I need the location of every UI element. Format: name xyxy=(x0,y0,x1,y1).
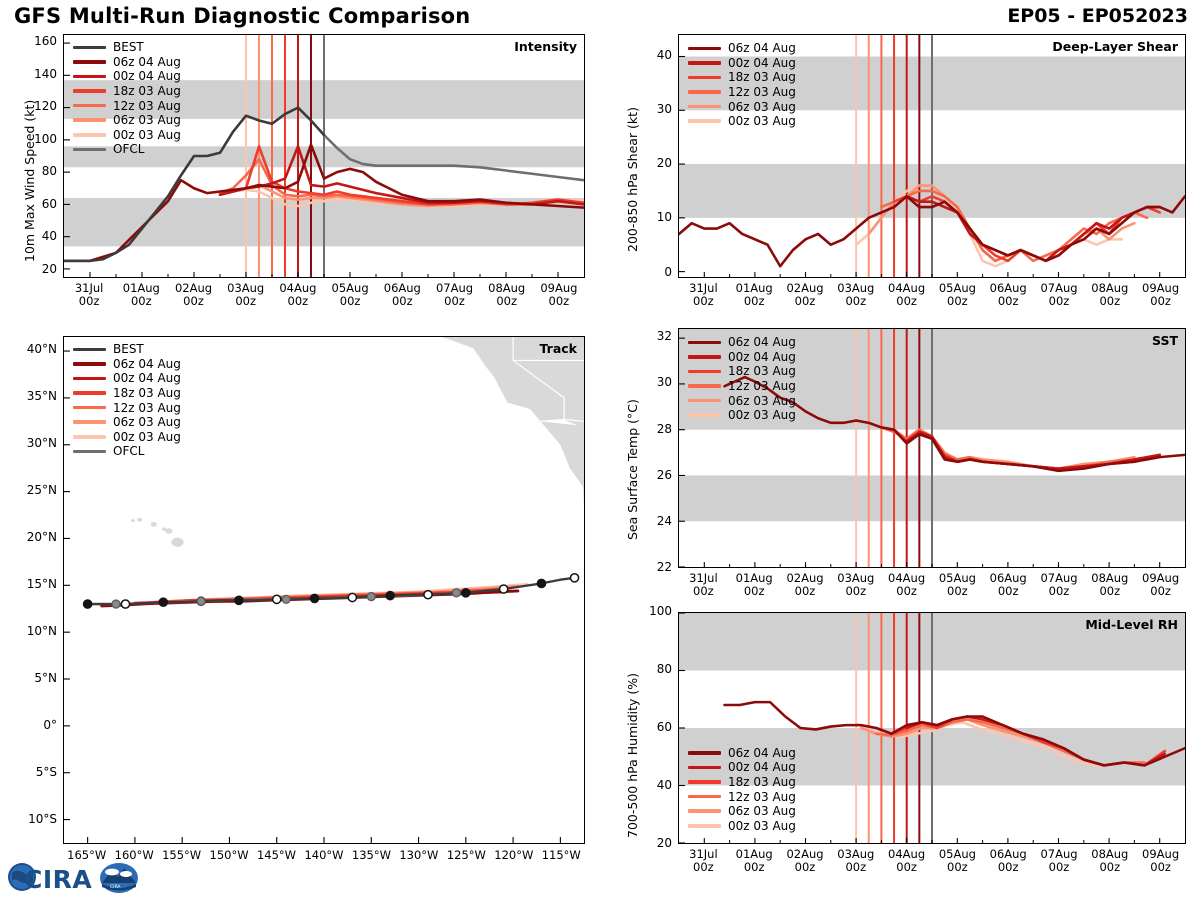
legend-label: 00z 04 Aug xyxy=(728,56,796,70)
legend-item: 06z 04 Aug xyxy=(73,357,181,372)
legend-label: 00z 04 Aug xyxy=(728,760,796,774)
legend-item: BEST xyxy=(73,40,181,55)
legend-swatch-06z-03-aug xyxy=(688,105,721,109)
rh-y-axis-label: 700-500 hPa Humidity (%) xyxy=(625,673,640,838)
legend-swatch-18z-03-aug xyxy=(73,391,106,395)
panel-label-rh: Mid-Level RH xyxy=(1085,617,1178,632)
track-marker-ofcl xyxy=(112,600,120,608)
legend-label: 18z 03 Aug xyxy=(728,364,796,378)
sst-y-axis-label: Sea Surface Temp (°C) xyxy=(625,399,640,540)
legend-label: 06z 04 Aug xyxy=(728,746,796,760)
landmass-hawaii xyxy=(131,519,135,522)
legend-swatch-18z-03-aug xyxy=(688,76,721,80)
legend-swatch-ofcl xyxy=(73,450,106,454)
legend-item: 00z 03 Aug xyxy=(688,818,796,833)
legend-swatch-06z-03-aug xyxy=(73,420,106,424)
legend-label: 18z 03 Aug xyxy=(728,70,796,84)
legend-label: OFCL xyxy=(113,142,144,156)
legend-swatch-12z-03-aug xyxy=(688,90,721,94)
legend-shear: 06z 04 Aug00z 04 Aug18z 03 Aug12z 03 Aug… xyxy=(688,41,796,129)
legend-swatch-00z-04-aug xyxy=(73,75,106,79)
legend-swatch-18z-03-aug xyxy=(688,370,721,374)
y-tick-label: 35°N xyxy=(3,389,57,403)
y-tick-label: 20°N xyxy=(3,530,57,544)
panel-sst[interactable]: SST 06z 04 Aug00z 04 Aug18z 03 Aug12z 03… xyxy=(678,328,1186,568)
panel-label-shear: Deep-Layer Shear xyxy=(1052,39,1178,54)
legend-swatch-18z-03-aug xyxy=(73,89,106,93)
legend-item: 06z 03 Aug xyxy=(73,415,181,430)
x-tick-label: 09Aug00z xyxy=(1129,572,1193,598)
legend-swatch-00z-03-aug xyxy=(73,133,106,137)
legend-item: 06z 03 Aug xyxy=(73,113,181,128)
figure-canvas: GFS Multi-Run Diagnostic Comparison EP05… xyxy=(0,0,1200,900)
track-marker xyxy=(386,592,394,600)
cira-logo-graphic: CIRA CIRA xyxy=(6,858,138,898)
track-marker xyxy=(84,600,92,608)
legend-swatch-00z-04-aug xyxy=(688,61,721,65)
legend-swatch-06z-04-aug xyxy=(688,341,721,345)
legend-item: 00z 03 Aug xyxy=(73,430,181,445)
legend-item: 00z 04 Aug xyxy=(73,69,181,84)
track-marker xyxy=(121,600,129,608)
legend-label: 18z 03 Aug xyxy=(113,84,181,98)
legend-label: 00z 04 Aug xyxy=(728,350,796,364)
legend-swatch-06z-03-aug xyxy=(688,399,721,403)
y-tick-label: 5°S xyxy=(3,765,57,779)
svg-text:CIRA: CIRA xyxy=(24,865,92,894)
legend-item: 00z 04 Aug xyxy=(688,56,796,71)
legend-item: 06z 04 Aug xyxy=(688,41,796,56)
legend-swatch-12z-03-aug xyxy=(73,104,106,108)
legend-track: BEST06z 04 Aug00z 04 Aug18z 03 Aug12z 03… xyxy=(73,342,181,459)
y-tick-label: 30 xyxy=(620,375,672,389)
legend-swatch-06z-04-aug xyxy=(688,47,721,51)
legend-swatch-00z-03-aug xyxy=(688,824,721,828)
legend-swatch-12z-03-aug xyxy=(73,406,106,410)
svg-text:CIRA: CIRA xyxy=(110,884,121,890)
legend-swatch-ofcl xyxy=(73,148,106,152)
track-marker xyxy=(159,598,167,606)
landmass-hawaii xyxy=(165,528,172,533)
legend-swatch-06z-03-aug xyxy=(688,809,721,813)
legend-item: 18z 03 Aug xyxy=(688,70,796,85)
legend-label: BEST xyxy=(113,342,144,356)
landmass-baja-california xyxy=(541,421,584,508)
legend-label: 00z 03 Aug xyxy=(728,408,796,422)
track-marker xyxy=(500,585,508,593)
track-marker xyxy=(570,574,578,582)
track-marker xyxy=(348,593,356,601)
legend-item: 18z 03 Aug xyxy=(73,84,181,99)
track-marker-ofcl xyxy=(367,593,375,601)
legend-item: 06z 03 Aug xyxy=(688,99,796,114)
legend-item: 00z 03 Aug xyxy=(73,128,181,143)
legend-swatch-00z-04-aug xyxy=(688,355,721,359)
y-tick-label: 25°N xyxy=(3,483,57,497)
panel-label-track: Track xyxy=(540,341,577,356)
legend-intensity: BEST06z 04 Aug00z 04 Aug18z 03 Aug12z 03… xyxy=(73,40,181,157)
landmass-hawaii xyxy=(137,518,142,522)
legend-label: 06z 03 Aug xyxy=(728,100,796,114)
x-tick-label: 09Aug00z xyxy=(527,282,591,308)
y-tick-label: 20 xyxy=(5,262,57,276)
legend-item: BEST xyxy=(73,342,181,357)
legend-label: 06z 03 Aug xyxy=(728,394,796,408)
panel-rh[interactable]: Mid-Level RH 06z 04 Aug00z 04 Aug18z 03 … xyxy=(678,612,1186,844)
legend-label: BEST xyxy=(113,40,144,54)
panel-shear[interactable]: Deep-Layer Shear 06z 04 Aug00z 04 Aug18z… xyxy=(678,34,1186,278)
y-tick-label: 22 xyxy=(620,560,672,574)
legend-label: 18z 03 Aug xyxy=(728,775,796,789)
y-tick-label: 40°N xyxy=(3,342,57,356)
legend-item: 12z 03 Aug xyxy=(688,85,796,100)
legend-item: 18z 03 Aug xyxy=(688,775,796,790)
series-line-06z-03-aug xyxy=(869,423,1135,469)
legend-sst: 06z 04 Aug00z 04 Aug18z 03 Aug12z 03 Aug… xyxy=(688,335,796,423)
landmass-hawaii xyxy=(151,522,157,527)
y-tick-label: 10°N xyxy=(3,624,57,638)
legend-swatch-06z-04-aug xyxy=(688,751,721,755)
landmass-hawaii xyxy=(171,538,183,547)
y-tick-label: 20 xyxy=(620,836,672,850)
intensity-y-axis-label: 10m Max Wind Speed (kt) xyxy=(22,100,37,262)
cira-logo: CIRA CIRA xyxy=(6,858,138,898)
y-tick-label: 15°N xyxy=(3,577,57,591)
legend-label: 12z 03 Aug xyxy=(728,379,796,393)
legend-swatch-06z-04-aug xyxy=(73,60,106,64)
legend-label: 06z 04 Aug xyxy=(113,357,181,371)
legend-item: 12z 03 Aug xyxy=(73,98,181,113)
y-tick-label: 32 xyxy=(620,329,672,343)
legend-label: 00z 03 Aug xyxy=(728,114,796,128)
legend-label: 06z 04 Aug xyxy=(728,335,796,349)
legend-label: 06z 04 Aug xyxy=(728,41,796,55)
storm-id-title: EP05 - EP052023 xyxy=(1007,5,1188,27)
track-marker-ofcl xyxy=(452,589,460,597)
legend-label: 00z 03 Aug xyxy=(113,128,181,142)
legend-swatch-18z-03-aug xyxy=(688,780,721,784)
legend-item: 06z 03 Aug xyxy=(688,804,796,819)
legend-item: 12z 03 Aug xyxy=(73,400,181,415)
y-tick-label: 100 xyxy=(620,604,672,618)
legend-swatch-00z-04-aug xyxy=(73,377,106,381)
panel-label-intensity: Intensity xyxy=(514,39,577,54)
legend-swatch-00z-04-aug xyxy=(688,766,721,770)
panel-label-sst: SST xyxy=(1152,333,1178,348)
shear-y-axis-label: 200-850 hPa Shear (kt) xyxy=(625,107,640,252)
y-tick-label: 0 xyxy=(620,265,672,279)
legend-label: 06z 03 Aug xyxy=(113,415,181,429)
legend-label: 18z 03 Aug xyxy=(113,386,181,400)
legend-label: 00z 04 Aug xyxy=(113,69,181,83)
legend-label: 06z 03 Aug xyxy=(113,113,181,127)
y-tick-label: 40 xyxy=(620,48,672,62)
legend-swatch-best xyxy=(73,46,106,50)
legend-label: 12z 03 Aug xyxy=(113,99,181,113)
legend-swatch-12z-03-aug xyxy=(688,384,721,388)
legend-item: 12z 03 Aug xyxy=(688,379,796,394)
legend-item: 06z 03 Aug xyxy=(688,393,796,408)
legend-item: 00z 03 Aug xyxy=(688,408,796,423)
legend-label: 12z 03 Aug xyxy=(728,790,796,804)
legend-label: OFCL xyxy=(113,444,144,458)
panel-track[interactable]: Track BEST06z 04 Aug00z 04 Aug18z 03 Aug… xyxy=(63,336,585,844)
legend-rh: 06z 04 Aug00z 04 Aug18z 03 Aug12z 03 Aug… xyxy=(688,745,796,833)
legend-label: 00z 03 Aug xyxy=(728,819,796,833)
x-tick-label: 115°W xyxy=(529,849,593,862)
x-tick-label: 09Aug00z xyxy=(1129,848,1193,874)
legend-label: 12z 03 Aug xyxy=(728,85,796,99)
track-marker-ofcl xyxy=(197,597,205,605)
track-marker xyxy=(235,596,243,604)
legend-label: 12z 03 Aug xyxy=(113,401,181,415)
legend-label: 06z 04 Aug xyxy=(113,55,181,69)
legend-item: 00z 04 Aug xyxy=(688,760,796,775)
legend-swatch-12z-03-aug xyxy=(688,795,721,799)
y-tick-label: 30°N xyxy=(3,436,57,450)
legend-item: 18z 03 Aug xyxy=(73,386,181,401)
track-marker xyxy=(462,589,470,597)
track-marker xyxy=(310,594,318,602)
legend-label: 06z 03 Aug xyxy=(728,804,796,818)
legend-swatch-00z-03-aug xyxy=(688,119,721,123)
legend-swatch-best xyxy=(73,348,106,352)
legend-item: OFCL xyxy=(73,444,181,459)
track-marker xyxy=(424,591,432,599)
x-tick-label: 09Aug00z xyxy=(1129,282,1193,308)
legend-label: 00z 04 Aug xyxy=(113,371,181,385)
legend-item: 06z 04 Aug xyxy=(688,745,796,760)
legend-label: 00z 03 Aug xyxy=(113,430,181,444)
track-marker xyxy=(273,595,281,603)
legend-item: 06z 04 Aug xyxy=(73,55,181,70)
y-tick-label: 140 xyxy=(5,67,57,81)
legend-item: 06z 04 Aug xyxy=(688,335,796,350)
legend-swatch-00z-03-aug xyxy=(73,435,106,439)
legend-swatch-00z-03-aug xyxy=(688,413,721,417)
y-tick-label: 160 xyxy=(5,34,57,48)
legend-swatch-06z-03-aug xyxy=(73,118,106,122)
legend-item: OFCL xyxy=(73,142,181,157)
panel-intensity[interactable]: Intensity BEST06z 04 Aug00z 04 Aug18z 03… xyxy=(63,34,585,278)
legend-item: 18z 03 Aug xyxy=(688,364,796,379)
figure-title: GFS Multi-Run Diagnostic Comparison xyxy=(14,4,470,28)
track-marker-ofcl xyxy=(282,595,290,603)
track-marker xyxy=(537,579,545,587)
y-tick-label: 5°N xyxy=(3,671,57,685)
legend-item: 00z 04 Aug xyxy=(73,371,181,386)
legend-swatch-06z-04-aug xyxy=(73,362,106,366)
legend-item: 12z 03 Aug xyxy=(688,789,796,804)
legend-item: 00z 03 Aug xyxy=(688,114,796,129)
legend-item: 00z 04 Aug xyxy=(688,350,796,365)
y-tick-label: 10°S xyxy=(3,812,57,826)
y-tick-label: 0° xyxy=(3,718,57,732)
